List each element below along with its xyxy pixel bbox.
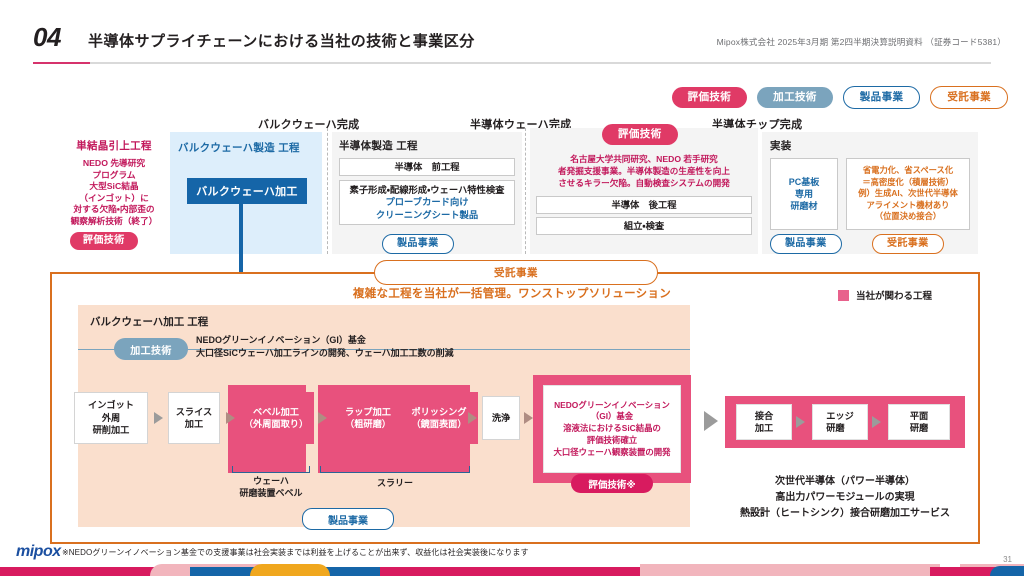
bulk-wafer-processing-block: バルクウェーハ加工 [187, 178, 307, 204]
column-ingot-pulling: 単結晶引上工程 NEDO 先導研究 プログラム 大型SiC結晶 （インゴット）に… [55, 138, 173, 246]
bracket-label-wafer-polisher: ウェーハ 研磨装置ベベル [212, 476, 330, 499]
mipox-logo: mipox [16, 543, 61, 561]
flow-step-bevel: ベベル加工 （外周面取り） [238, 392, 314, 444]
column3-badge-seihin: 製品事業 [382, 234, 454, 254]
nedo-gi-research-box: NEDOグリーンイノベーション （GI）基金 溶液法におけるSiC結晶の 評価技… [543, 385, 681, 473]
bracket-label-slurry: スラリー [330, 478, 460, 490]
flow-arrow-icon-big [704, 411, 718, 431]
slide-root: 04 半導体サプライチェーンにおける当社の技術と事業区分 Mipox株式会社 2… [0, 0, 1024, 576]
stage-caption-bulk: バルクウェーハ完成 [258, 116, 359, 132]
flow-step-slice: スライス 加工 [168, 392, 220, 444]
nedo-badge-hyouka: 評価技術※ [571, 474, 653, 493]
column1-badge-hyouka: 評価技術 [70, 232, 138, 250]
gi-description: NEDOグリーンイノベーション（GI）基金 大口径SiCウェーハ加工ラインの開発… [196, 334, 454, 360]
column-title: 半導体製造 工程 [339, 138, 522, 153]
column5-badge-seihin: 製品事業 [770, 234, 842, 254]
probe-line2: プローブカード向け [385, 196, 468, 209]
right-step-flat-polish: 平面 研磨 [888, 404, 950, 440]
header-divider [33, 62, 991, 64]
column-title: 単結晶引上工程 [55, 138, 173, 153]
semi-back-process-box: 半導体 後工程 [536, 196, 752, 214]
column-body: NEDO 先導研究 プログラム 大型SiC結晶 （インゴット）に 対する欠陥・内… [55, 158, 173, 227]
probe-line3: クリーニングシート製品 [376, 209, 478, 222]
footnote: ※NEDOグリーンイノベーション基金での支援事業は社会実装までは利益を上げること… [62, 547, 529, 558]
column-title: 実装 [770, 138, 978, 153]
flow-arrow-icon-6 [524, 412, 533, 424]
panel-badge-jutaku: 受託事業 [374, 260, 658, 285]
gi-badge-kakou: 加工技術 [114, 338, 188, 360]
flow-badge-seihin: 製品事業 [302, 508, 394, 530]
pc-board-abrasive-box: PC基板 専用 研磨材 [770, 158, 838, 230]
page-title-number: 04 [33, 22, 61, 53]
decorative-bottom-strip [0, 564, 1024, 576]
column4-badge-hyouka: 評価技術 [602, 124, 678, 145]
header-divider-accent [33, 62, 90, 64]
flow-arrow-icon-1 [154, 412, 163, 424]
column-title: バルクウェーハ製造 工程 [178, 140, 322, 155]
header-meta: Mipox株式会社 2025年3月期 第2四半期決算説明資料 （証券コード538… [717, 36, 1006, 48]
flow-step-polishing: ポリッシング （鏡面表面） [400, 392, 478, 444]
flow-arrow-icon-2 [226, 412, 235, 424]
column4-description: 名古屋大学共同研究、NEDO 若手研究 者発掘支援事業。半導体製造の生産性を向上… [536, 154, 752, 190]
right-step-edge-polish: エッジ 研磨 [812, 404, 868, 440]
assembly-inspection-box: 組立・検査 [536, 217, 752, 235]
column-divider-1 [327, 128, 328, 254]
legend-badge-hyouka: 評価技術 [672, 87, 748, 108]
page-number: 31 [1003, 555, 1012, 564]
probe-card-product-box: 素子形成・配線形成・ウェーハ特性検査 プローブカード向け クリーニングシート製品 [339, 180, 515, 225]
legend-swatch-icon [838, 290, 849, 301]
legend-badge-seihin: 製品事業 [843, 86, 921, 109]
flow-arrow-icon-3 [318, 412, 327, 424]
legend-badges: 評価技術 加工技術 製品事業 受託事業 [672, 86, 1008, 109]
column-divider-2 [525, 128, 526, 254]
right-summary-text: 次世代半導体（パワー半導体） 高出力パワーモジュールの実現 熱設計（ヒートシンク… [700, 474, 990, 522]
column-bulk-wafer-manufacturing: バルクウェーハ製造 工程 バルクウェーハ加工 [170, 132, 322, 254]
semi-front-process-box: 半導体 前工程 [339, 158, 515, 176]
right-arrow-icon-2 [872, 416, 881, 428]
probe-line1: 素子形成・配線形成・ウェーハ特性検査 [350, 184, 505, 197]
column-semiconductor-back-end: 名古屋大学共同研究、NEDO 若手研究 者発掘支援事業。半導体製造の生産性を向上… [530, 128, 758, 254]
inner-panel-title: バルクウェーハ加工 工程 [90, 314, 208, 329]
column5-badge-jutaku: 受託事業 [872, 234, 944, 254]
flow-step-lap: ラップ加工 （粗研磨） [330, 392, 406, 444]
flow-step-ingot-grinding: インゴット 外周 研削加工 [74, 392, 148, 444]
gi-line2: 大口径SiCウェーハ加工ラインの開発、ウェーハ加工工数の削減 [196, 347, 454, 360]
panel-legend: 当社が関わる工程 [838, 288, 932, 302]
right-step-bonding: 接合 加工 [736, 404, 792, 440]
gi-line1: NEDOグリーンイノベーション（GI）基金 [196, 334, 454, 347]
legend-badge-kakou: 加工技術 [757, 87, 833, 108]
flow-arrow-icon-5 [468, 412, 477, 424]
flow-step-cleaning: 洗浄 [482, 396, 520, 440]
page-title: 半導体サプライチェーンにおける当社の技術と事業区分 [88, 30, 475, 51]
power-saving-box: 省電力化、省スペース化 ＝高密度化（積層技術） 例）生成AI、次世代半導体 アラ… [846, 158, 970, 230]
bracket-wafer-polisher [232, 466, 310, 473]
bracket-slurry [320, 466, 470, 473]
legend-badge-jutaku: 受託事業 [930, 86, 1008, 109]
right-arrow-icon-1 [796, 416, 805, 428]
panel-legend-label: 当社が関わる工程 [856, 288, 932, 302]
